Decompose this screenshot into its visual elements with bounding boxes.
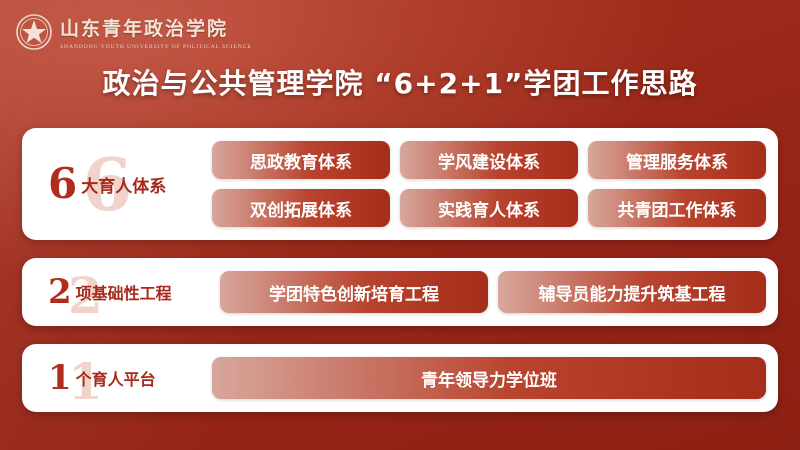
section-label-text-6: 大育人体系 bbox=[81, 172, 166, 197]
item-pill[interactable]: 实践育人体系 bbox=[400, 189, 578, 227]
page-title: 政治与公共管理学院 “6+2+1”学团工作思路 bbox=[0, 62, 800, 102]
item-pill[interactable]: 学团特色创新培育工程 bbox=[220, 271, 488, 313]
section-items-6: 思政教育体系 学风建设体系 管理服务体系 双创拓展体系 实践育人体系 共青团工作… bbox=[212, 128, 766, 240]
section-label-text-1: 个育人平台 bbox=[76, 366, 156, 390]
item-row: 青年领导力学位班 bbox=[212, 357, 766, 399]
section-label-1: 1 个育人平台 bbox=[48, 344, 156, 412]
item-pill[interactable]: 共青团工作体系 bbox=[588, 189, 766, 227]
item-row: 思政教育体系 学风建设体系 管理服务体系 bbox=[212, 141, 766, 179]
item-pill[interactable]: 辅导员能力提升筑基工程 bbox=[498, 271, 766, 313]
section-label-text-2: 项基础性工程 bbox=[76, 280, 172, 304]
item-pill[interactable]: 双创拓展体系 bbox=[212, 189, 390, 227]
item-row: 学团特色创新培育工程 辅导员能力提升筑基工程 bbox=[220, 271, 766, 313]
section-number-2: 2 bbox=[48, 275, 72, 309]
section-items-2: 学团特色创新培育工程 辅导员能力提升筑基工程 bbox=[220, 258, 766, 326]
logo-name-cn: 山东青年政治学院 bbox=[60, 14, 252, 41]
university-logo: 山东青年政治学院 SHANDONG YOUTH UNIVERSITY OF PO… bbox=[14, 8, 244, 56]
section-card-2: 2 2 项基础性工程 学团特色创新培育工程 辅导员能力提升筑基工程 bbox=[22, 258, 778, 326]
section-items-1: 青年领导力学位班 bbox=[212, 344, 766, 412]
item-pill[interactable]: 管理服务体系 bbox=[588, 141, 766, 179]
item-row: 双创拓展体系 实践育人体系 共青团工作体系 bbox=[212, 189, 766, 227]
university-seal-icon bbox=[14, 12, 54, 52]
section-label-2: 2 项基础性工程 bbox=[48, 258, 172, 326]
item-pill[interactable]: 学风建设体系 bbox=[400, 141, 578, 179]
section-card-1: 1 1 个育人平台 青年领导力学位班 bbox=[22, 344, 778, 412]
logo-name-en: SHANDONG YOUTH UNIVERSITY OF POLITICAL S… bbox=[60, 44, 252, 50]
section-number-1: 1 bbox=[48, 361, 72, 395]
section-number-6: 6 bbox=[48, 163, 77, 205]
section-card-6: 6 6 大育人体系 思政教育体系 学风建设体系 管理服务体系 双创拓展体系 实践… bbox=[22, 128, 778, 240]
item-pill[interactable]: 青年领导力学位班 bbox=[212, 357, 766, 399]
section-label-6: 6 大育人体系 bbox=[48, 128, 166, 240]
item-pill[interactable]: 思政教育体系 bbox=[212, 141, 390, 179]
